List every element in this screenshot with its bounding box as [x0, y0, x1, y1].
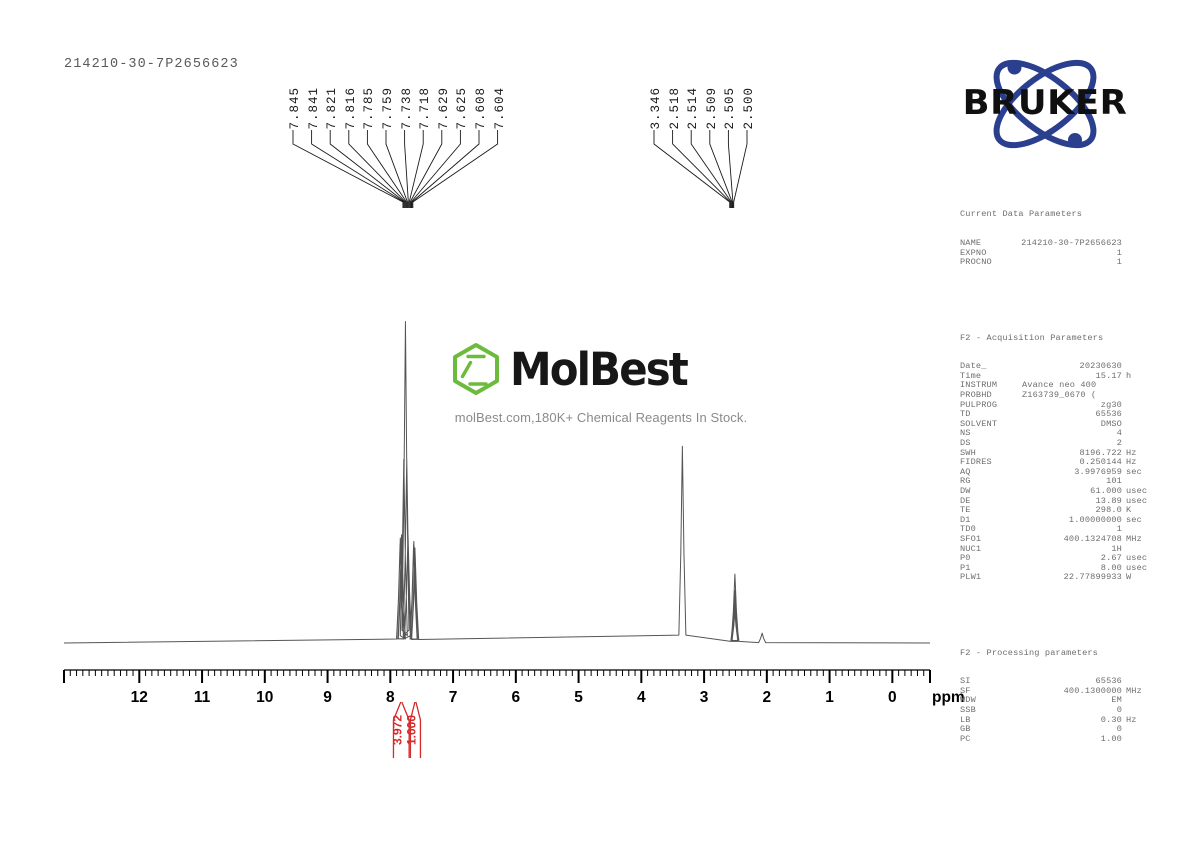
peak-leader-lines-left: [289, 130, 549, 208]
param-unit: [1122, 696, 1160, 706]
param-list-processing: SI65536SF400.1300000MHzWDWEMSSB0LB0.30Hz…: [960, 677, 1160, 744]
param-value: 4: [1020, 429, 1122, 439]
param-unit: W: [1122, 573, 1160, 583]
peak-value-label: 7.759: [382, 87, 395, 130]
sample-title: 214210-30-7P2656623: [64, 57, 239, 72]
param-row: AQ3.9976959sec: [960, 468, 1160, 478]
peak-value-label: 2.514: [687, 87, 700, 130]
param-row: GB0: [960, 725, 1160, 735]
param-row: PC1.00: [960, 735, 1160, 745]
peak-leader-line: [412, 130, 479, 208]
param-unit: sec: [1122, 516, 1160, 526]
param-heading-processing: F2 - Processing parameters: [960, 649, 1160, 659]
param-row: SFO1400.1324708MHz: [960, 535, 1160, 545]
peak-label-group-aliphatic: 3.3462.5182.5142.5092.5052.500: [650, 60, 770, 130]
param-unit: MHz: [1122, 535, 1160, 545]
peak-leader-line: [734, 130, 747, 208]
param-unit: Hz: [1122, 716, 1160, 726]
param-unit: [1122, 239, 1160, 249]
integral-value-label: 3.972: [390, 715, 404, 745]
param-row: WDWEM: [960, 696, 1160, 706]
peak-value-label: 7.608: [475, 87, 488, 130]
param-key: PROCNO: [960, 258, 1020, 268]
param-heading-acquisition: F2 - Acquisition Parameters: [960, 334, 1160, 344]
peak-value-label: 7.845: [289, 87, 302, 130]
peak-value-label: 7.718: [419, 87, 432, 130]
param-unit: [1122, 391, 1160, 401]
molbest-tagline: molBest.com,180K+ Chemical Reagents In S…: [441, 410, 761, 425]
peak-value-label: 7.821: [326, 87, 339, 130]
param-row: NAME214210-30-7P2656623: [960, 239, 1160, 249]
acquisition-parameters-panel: Current Data Parameters NAME214210-30-7P…: [960, 172, 1160, 791]
peak-leader-line: [728, 130, 732, 208]
peak-value-label: 7.629: [438, 87, 451, 130]
svg-text:BRUKER: BRUKER: [963, 84, 1128, 123]
param-row: NS4: [960, 429, 1160, 439]
param-unit: [1122, 725, 1160, 735]
param-value: 1.00000000: [1020, 516, 1122, 526]
param-unit: [1122, 429, 1160, 439]
peak-leader-line: [654, 130, 730, 208]
param-section-processing: F2 - Processing parameters SI65536SF400.…: [960, 629, 1160, 763]
param-value: 22.77899933: [1020, 573, 1122, 583]
peak-leader-line: [312, 130, 404, 208]
integral-value-label: 1.000: [404, 715, 418, 745]
peak-value-label: 2.505: [724, 87, 737, 130]
param-value: 1.00: [1020, 735, 1122, 745]
peak-value-label: 7.738: [401, 87, 414, 130]
param-unit: [1122, 735, 1160, 745]
param-value: 400.1324708: [1020, 535, 1122, 545]
peak-value-label: 7.785: [363, 87, 376, 130]
param-unit: MHz: [1122, 687, 1160, 697]
molbest-logo: MolBest: [441, 338, 761, 400]
bruker-logo: BRUKER: [953, 52, 1137, 156]
param-value: DMSO: [1020, 420, 1122, 430]
param-unit: [1122, 249, 1160, 259]
param-unit: [1122, 258, 1160, 268]
peak-value-label: 2.500: [743, 87, 756, 130]
hexagon-icon: [448, 341, 504, 397]
param-row: PULPROGzg30: [960, 401, 1160, 411]
param-heading-current: Current Data Parameters: [960, 210, 1160, 220]
peak-label-group-aromatic: 7.8457.8417.8217.8167.7857.7597.7387.718…: [289, 60, 509, 130]
param-section-acquisition: F2 - Acquisition Parameters Date_2023063…: [960, 314, 1160, 602]
param-value: 1: [1020, 249, 1122, 259]
molbest-wordmark: MolBest: [510, 347, 687, 392]
param-key: PC: [960, 735, 1020, 745]
peak-value-label: 3.346: [650, 87, 663, 130]
peak-value-label: 7.604: [494, 87, 507, 130]
peak-value-label: 2.518: [669, 87, 682, 130]
nmr-report-page: 214210-30-7P2656623 7.8457.8417.8217.816…: [0, 0, 1190, 842]
param-list-current: NAME214210-30-7P2656623EXPNO1PROCNO1: [960, 239, 1160, 268]
peak-value-label: 7.841: [308, 87, 321, 130]
peak-value-label: 7.816: [345, 87, 358, 130]
param-value: 0.30: [1020, 716, 1122, 726]
peak-leader-line: [410, 130, 442, 208]
param-value: 214210-30-7P2656623: [1020, 239, 1122, 249]
param-unit: sec: [1122, 468, 1160, 478]
peak-leader-line: [413, 130, 498, 208]
param-row: PROCNO1: [960, 258, 1160, 268]
param-section-current: Current Data Parameters NAME214210-30-7P…: [960, 191, 1160, 287]
param-key: PLW1: [960, 573, 1020, 583]
param-list-acquisition: Date_20230630Time15.17hINSTRUMAvance neo…: [960, 362, 1160, 583]
molbest-watermark: MolBest molBest.com,180K+ Chemical Reage…: [441, 338, 761, 438]
param-value: 400.1300000: [1020, 687, 1122, 697]
peak-value-label: 2.509: [706, 87, 719, 130]
param-unit: [1122, 401, 1160, 411]
param-value: 1: [1020, 258, 1122, 268]
param-unit: h: [1122, 372, 1160, 382]
param-row: D11.00000000sec: [960, 516, 1160, 526]
peak-label-list-left: 7.8457.8417.8217.8167.7857.7597.7387.718…: [289, 60, 509, 130]
peak-label-list-right: 3.3462.5182.5142.5092.5052.500: [650, 60, 770, 130]
peak-leader-lines-right: [650, 130, 910, 208]
param-row: LB0.30Hz: [960, 716, 1160, 726]
param-row: SOLVENTDMSO: [960, 420, 1160, 430]
param-row: SF400.1300000MHz: [960, 687, 1160, 697]
param-value: EM: [1020, 696, 1122, 706]
param-row: PLW122.77899933W: [960, 573, 1160, 583]
peak-value-label: 7.625: [456, 87, 469, 130]
param-unit: [1122, 381, 1160, 391]
param-unit: [1122, 420, 1160, 430]
param-unit: [1122, 410, 1160, 420]
integral-bracket: 1.000: [404, 702, 420, 758]
